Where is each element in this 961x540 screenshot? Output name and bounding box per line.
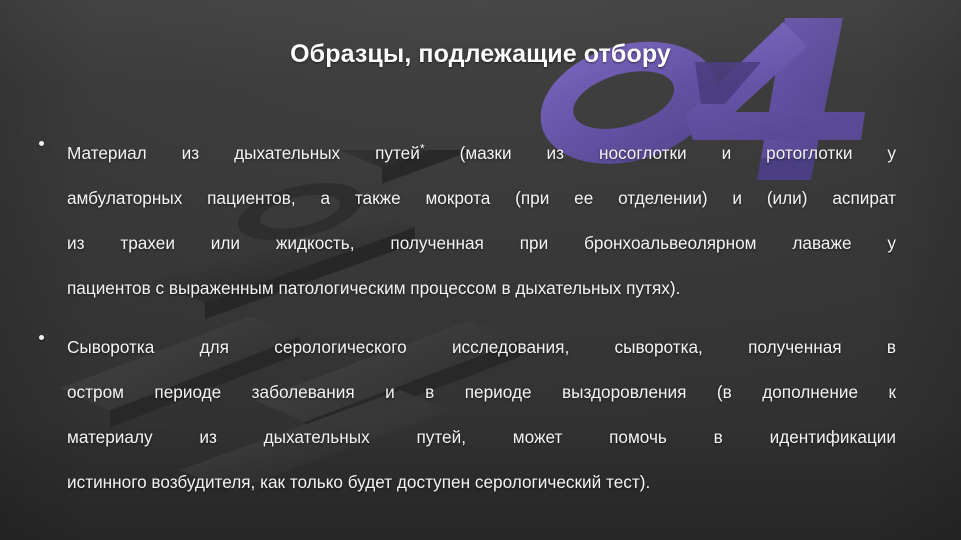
list-item-text: Сыворотка для серологического исследован… [67, 325, 896, 505]
bullet-2-line-4: истинного возбудителя, как только будет … [67, 460, 896, 505]
bullet-1-line-1: Материал из дыхательных путей* (мазки из… [67, 131, 896, 176]
list-item: Сыворотка для серологического исследован… [34, 325, 896, 505]
list-item: Материал из дыхательных путей* (мазки из… [34, 131, 896, 311]
bullet-1-line-4: пациентов с выраженным патологическим пр… [67, 266, 896, 311]
presentation-slide: Образцы, подлежащие отбору Материал из д… [0, 0, 961, 540]
bullet-1-line-2: амбулаторных пациентов, а также мокрота … [67, 176, 896, 221]
list-item-text: Материал из дыхательных путей* (мазки из… [67, 131, 896, 311]
bullet-list: Материал из дыхательных путей* (мазки из… [34, 131, 896, 505]
bullet-2-line-2: остром периоде заболевания и в периоде в… [67, 370, 896, 415]
bullet-dot-icon [39, 141, 44, 146]
bullet-1-line-3: из трахеи или жидкость, полученная при б… [67, 221, 896, 266]
bullet-2-line-1: Сыворотка для серологического исследован… [67, 325, 896, 370]
footnote-asterisk: * [420, 141, 425, 155]
page-title: Образцы, подлежащие отбору [0, 40, 961, 69]
bullet-dot-icon [39, 335, 44, 340]
bullet-2-line-3: материалу из дыхательных путей, может по… [67, 415, 896, 460]
